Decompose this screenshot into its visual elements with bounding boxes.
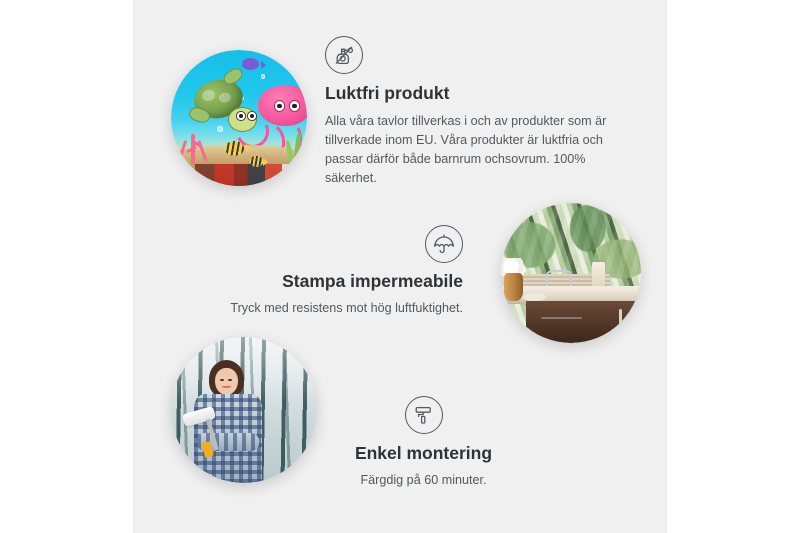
octopus-eye	[289, 100, 301, 112]
feature-body: Färgdig på 60 minuter.	[306, 471, 541, 490]
octopus-eye	[274, 100, 286, 112]
product-feature-infographic: Luktfri produkt Alla våra tavlor tillver…	[0, 0, 800, 533]
feature-easy-mounting: Enkel montering Färgdig på 60 minuter.	[306, 396, 541, 490]
feature-body: Alla våra tavlor tillverkas i och av pro…	[325, 112, 625, 189]
photo-painter-forest	[171, 337, 317, 483]
paint-roller-icon	[405, 396, 443, 434]
feature-waterproof: Stampa impermeabile Tryck med resistens …	[193, 225, 463, 318]
photo-bathroom-wallpaper	[501, 203, 641, 343]
soap-dish	[523, 293, 545, 301]
cabinet-seam	[541, 317, 582, 319]
gold-vase	[504, 273, 524, 301]
photo-bathroom-inner	[501, 203, 641, 343]
faucet	[546, 270, 572, 286]
photo-painter-inner	[171, 337, 317, 483]
soap-bottle	[592, 262, 605, 286]
cabinet-handle	[637, 309, 640, 336]
umbrella-icon	[425, 225, 463, 263]
bubble-icon	[217, 126, 223, 132]
feature-body: Tryck med resistens mot hög luftfuktighe…	[193, 299, 463, 318]
sea-rocks	[195, 164, 304, 186]
feature-odourless: Luktfri produkt Alla våra tavlor tillver…	[325, 36, 625, 188]
feature-title: Luktfri produkt	[325, 83, 625, 105]
vanity-cabinet	[526, 301, 641, 343]
feature-title: Enkel montering	[306, 443, 541, 465]
no-odour-icon	[325, 36, 363, 74]
coral	[176, 129, 211, 164]
content-panel: Luktfri produkt Alla våra tavlor tillver…	[133, 0, 667, 533]
cabinet-handle	[619, 309, 622, 336]
feature-title: Stampa impermeabile	[193, 271, 463, 293]
photo-sea-mural	[171, 50, 307, 186]
photo-sea-mural-inner	[171, 50, 307, 186]
